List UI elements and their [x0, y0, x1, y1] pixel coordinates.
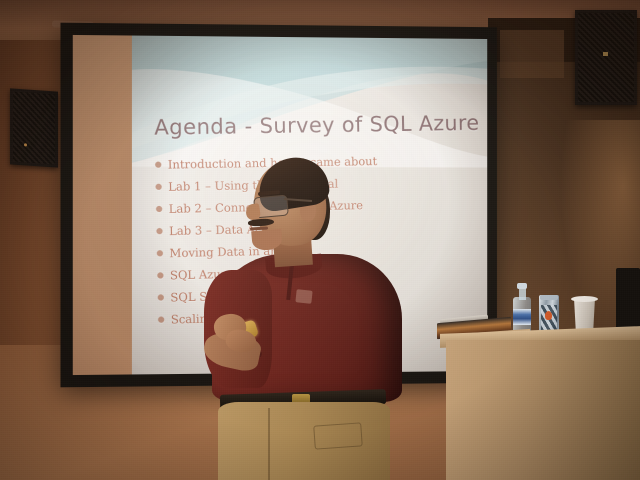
presentation-photo: Agenda - Survey of SQL Azure ● Introduct…	[0, 0, 640, 480]
bullet-dot-icon: ●	[156, 249, 163, 257]
right-wall-speaker	[575, 10, 637, 105]
bullet-dot-icon: ●	[155, 205, 162, 213]
speaker-grill-icon	[13, 92, 55, 165]
screen-unlit-band	[73, 35, 132, 375]
can-logo-icon	[545, 311, 552, 320]
bullet-dot-icon: ●	[155, 183, 162, 191]
pants-seam	[268, 408, 270, 480]
presenter-pants	[218, 402, 390, 480]
bottle-cap	[517, 283, 527, 289]
bottle-label	[513, 309, 531, 325]
left-wall-speaker	[10, 88, 58, 167]
speaker-grill-icon	[578, 13, 634, 102]
can-top	[540, 295, 558, 300]
bullet-dot-icon: ●	[158, 316, 165, 324]
presenter	[196, 162, 406, 480]
slide-swoosh-graphic	[132, 36, 487, 168]
soffit-panel	[500, 30, 564, 78]
presenter-shirt-logo	[295, 289, 312, 304]
bullet-dot-icon: ●	[155, 161, 162, 169]
bullet-dot-icon: ●	[156, 227, 163, 235]
pants-pocket	[313, 422, 363, 449]
paper-cup-rim	[571, 296, 598, 302]
bullet-dot-icon: ●	[157, 294, 164, 302]
bullet-dot-icon: ●	[157, 271, 164, 279]
slide-title: Agenda - Survey of SQL Azure	[154, 111, 483, 140]
podium	[446, 340, 640, 480]
speaker-led-icon	[603, 52, 608, 56]
bottle-neck	[519, 288, 526, 300]
speaker-led-icon	[24, 143, 27, 146]
